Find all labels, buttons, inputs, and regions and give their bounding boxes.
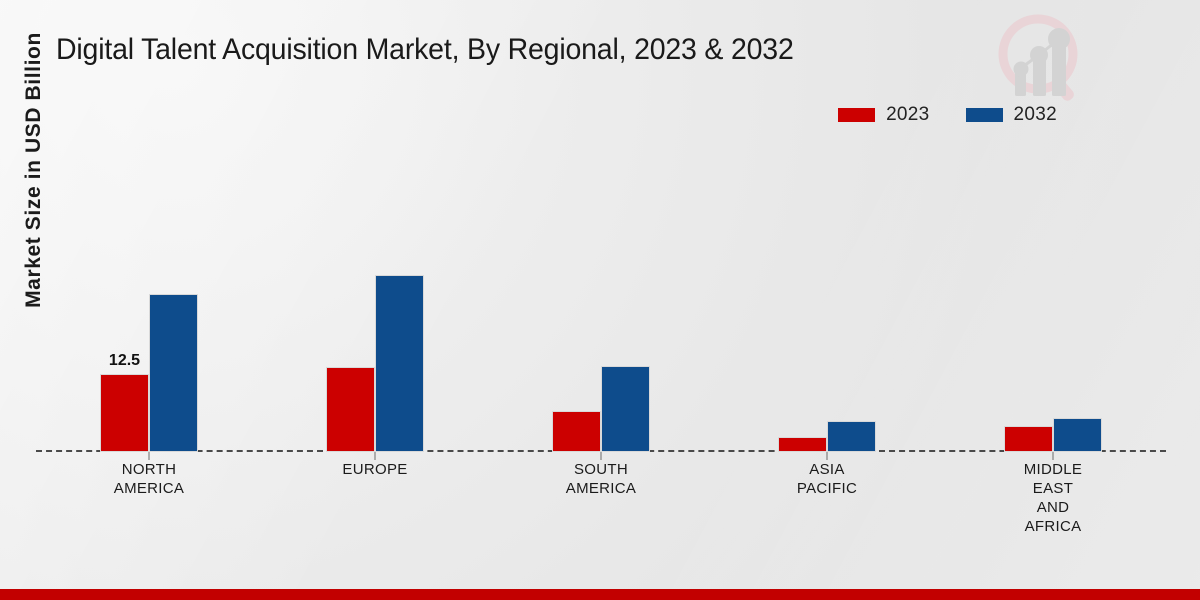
bar-group-north-america: 12.5 NORTH AMERICA <box>36 140 262 452</box>
bar-2023-south-america[interactable] <box>552 411 601 452</box>
bar-2032-south-america[interactable] <box>601 366 650 452</box>
chart-legend: 2023 2032 <box>838 104 1057 126</box>
bar-group-europe: EUROPE <box>262 140 488 452</box>
legend-label-2032: 2032 <box>1014 104 1057 126</box>
category-label-line: ASIA <box>797 460 857 479</box>
bar-2032-asia-pacific[interactable] <box>827 421 876 452</box>
axis-tick <box>601 452 602 460</box>
bar-group-south-america: SOUTH AMERICA <box>488 140 714 452</box>
bar-2032-europe[interactable] <box>375 275 424 452</box>
bar-2023-asia-pacific[interactable] <box>778 437 827 452</box>
category-label-line: MIDDLE <box>1024 460 1082 479</box>
bar-2032-middle-east-and-africa[interactable] <box>1053 418 1102 452</box>
legend-item-2032[interactable]: 2032 <box>966 104 1057 126</box>
bar-value-label: 12.5 <box>109 352 140 370</box>
bar-pair <box>1004 418 1102 452</box>
category-label-line: AND <box>1024 498 1082 517</box>
category-label-asia-pacific: ASIA PACIFIC <box>797 460 857 498</box>
category-label-europe: EUROPE <box>342 460 407 479</box>
axis-tick <box>827 452 828 460</box>
footer-accent-bar <box>0 589 1200 600</box>
category-label-line: AMERICA <box>114 479 184 498</box>
bar-pair: 12.5 <box>100 294 198 452</box>
category-label-line: EUROPE <box>342 460 407 479</box>
category-label-line: SOUTH <box>566 460 636 479</box>
chart-canvas: Digital Talent Acquisition Market, By Re… <box>0 0 1200 600</box>
category-label-south-america: SOUTH AMERICA <box>566 460 636 498</box>
plot-area: 12.5 NORTH AMERICA EUROPE <box>36 140 1166 452</box>
legend-swatch-2032 <box>966 108 1003 122</box>
category-label-line: NORTH <box>114 460 184 479</box>
bar-2023-europe[interactable] <box>326 367 375 452</box>
bar-pair <box>552 366 650 452</box>
axis-tick <box>375 452 376 460</box>
chart-title: Digital Talent Acquisition Market, By Re… <box>56 33 794 67</box>
category-label-middle-east-and-africa: MIDDLE EAST AND AFRICA <box>1024 460 1082 536</box>
magnifier-bar-chart-logo-icon <box>988 6 1092 110</box>
legend-label-2023: 2023 <box>886 104 929 126</box>
legend-swatch-2023 <box>838 108 875 122</box>
bar-2023-north-america[interactable]: 12.5 <box>100 374 149 452</box>
category-label-line: PACIFIC <box>797 479 857 498</box>
bar-pair <box>778 421 876 452</box>
category-label-north-america: NORTH AMERICA <box>114 460 184 498</box>
bar-group-asia-pacific: ASIA PACIFIC <box>714 140 940 452</box>
category-label-line: EAST <box>1024 479 1082 498</box>
category-label-line: AMERICA <box>566 479 636 498</box>
bar-pair <box>326 275 424 452</box>
bar-group-middle-east-and-africa: MIDDLE EAST AND AFRICA <box>940 140 1166 452</box>
axis-tick <box>149 452 150 460</box>
category-label-line: AFRICA <box>1024 517 1082 536</box>
bar-2032-north-america[interactable] <box>149 294 198 452</box>
bar-2023-middle-east-and-africa[interactable] <box>1004 426 1053 452</box>
axis-tick <box>1053 452 1054 460</box>
legend-item-2023[interactable]: 2023 <box>838 104 929 126</box>
